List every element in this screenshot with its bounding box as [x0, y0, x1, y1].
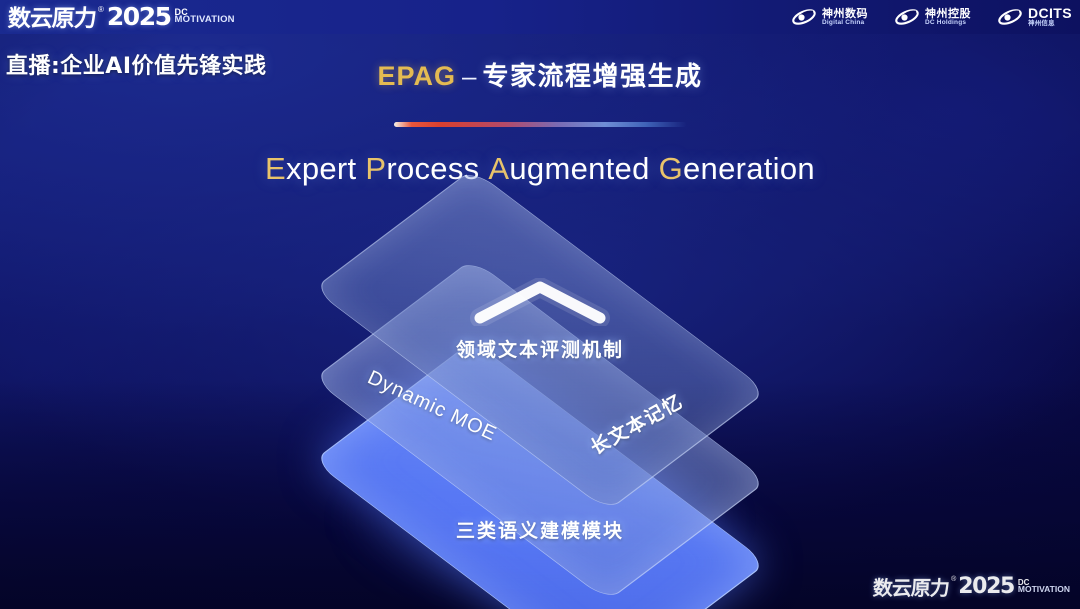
brand-dc-motivation: DC MOTIVATION: [175, 8, 235, 25]
swirl-logo-icon: [791, 7, 817, 27]
title-chinese: 专家流程增强生成: [482, 62, 702, 92]
eng-initial-a: A: [488, 151, 509, 186]
layered-stack-diagram: 领域文本评测机制 Dynamic MOE 长文本记忆 三类语义建模模块: [300, 234, 780, 574]
eng-word-augmented: ugmented: [509, 151, 649, 186]
english-title: Expert Process Augmented Generation: [0, 151, 1080, 187]
swirl-logo-icon: [997, 7, 1023, 27]
partner-name-en: DCITS: [1028, 6, 1072, 20]
title-dash: –: [462, 61, 476, 91]
partner-name-zh: 神州控股: [925, 8, 971, 19]
watermark-motivation: MOTIVATION: [1018, 586, 1070, 594]
eng-initial-e: E: [265, 151, 286, 186]
brand-year: 2025: [107, 2, 171, 31]
title-acronym: EPAG: [378, 61, 457, 91]
partner-name-zh: 神州信息: [1028, 21, 1072, 28]
partner-name-zh: 神州数码: [822, 8, 868, 19]
registered-mark-icon: ®: [98, 1, 104, 14]
brand-motivation: MOTIVATION: [175, 16, 235, 25]
partner-text: DCITS 神州信息: [1028, 6, 1072, 28]
watermark-logo: 数云原力 ® 2025 DC MOTIVATION: [873, 572, 1070, 601]
partner-logo-group: 神州数码 Digital China 神州控股 DC Holdings: [791, 2, 1072, 32]
registered-mark-icon: ®: [951, 572, 956, 583]
eng-word-expert: xpert: [286, 151, 356, 186]
eng-initial-p: P: [365, 151, 386, 186]
page-title: EPAG–专家流程增强生成: [0, 56, 1080, 93]
partner-logo-digital-china: 神州数码 Digital China: [791, 7, 868, 27]
watermark-name-zh: 数云原力: [872, 572, 950, 601]
layer-label-top: 领域文本评测机制: [456, 335, 624, 362]
swirl-logo-icon: [894, 7, 920, 27]
eng-word-generation: eneration: [683, 151, 815, 186]
partner-logo-dc-holdings: 神州控股 DC Holdings: [894, 7, 971, 27]
partner-text: 神州数码 Digital China: [822, 8, 868, 27]
layer-label-bottom: 三类语义建模模块: [456, 516, 624, 543]
slide-stage: 数云原力 ® 2025 DC MOTIVATION 直播:企业AI价值先锋实践 …: [0, 0, 1080, 609]
brand-name-zh: 数云原力: [7, 0, 97, 33]
partner-name-en: Digital China: [822, 20, 868, 27]
partner-name-en: DC Holdings: [925, 20, 971, 27]
watermark-year: 2025: [958, 574, 1014, 599]
eng-initial-g: G: [659, 151, 683, 186]
gradient-divider: [394, 122, 687, 127]
brand-logo: 数云原力 ® 2025 DC MOTIVATION: [8, 1, 235, 31]
watermark-dc-motivation: DC MOTIVATION: [1018, 579, 1070, 594]
partner-text: 神州控股 DC Holdings: [925, 8, 971, 27]
partner-logo-dcits: DCITS 神州信息: [997, 6, 1072, 28]
